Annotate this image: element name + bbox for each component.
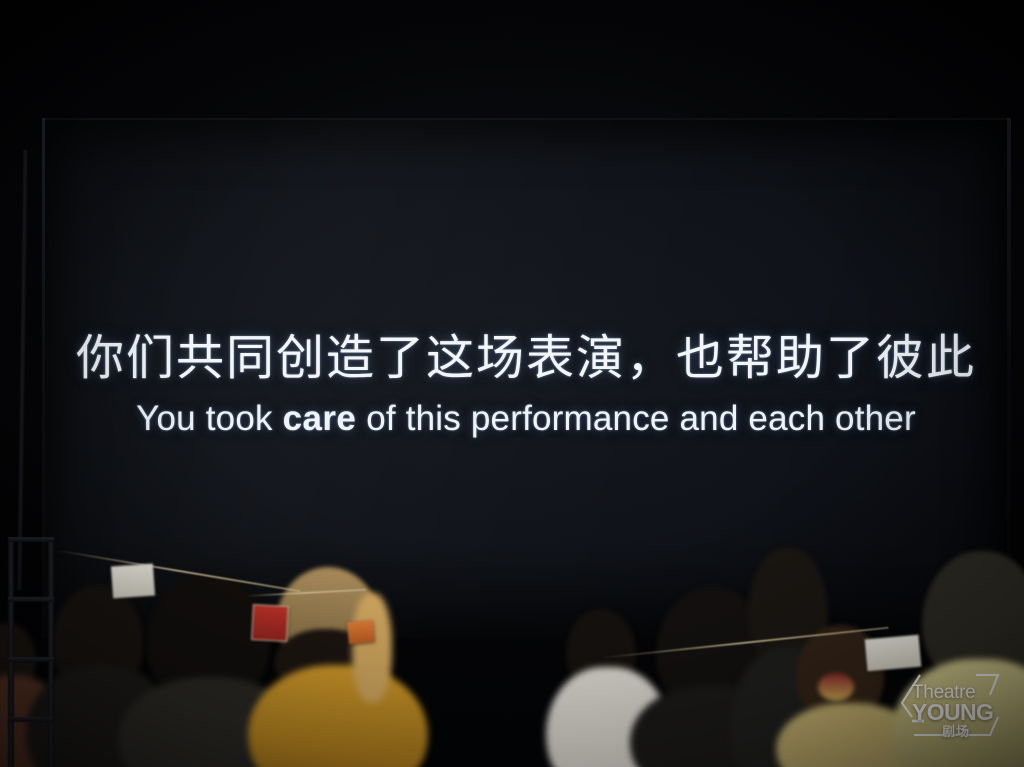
truss-rung [8,537,54,542]
lighting-truss [6,537,64,767]
truss-rail [8,537,14,767]
note-card [865,635,922,672]
note-card [251,604,289,642]
truss-rung [8,657,54,662]
logo-young-text: YOUNG [912,701,1004,724]
hair-accessory [818,673,854,701]
subtitle-english-emphasis: care [283,399,357,438]
theatre-screenshot: 你们共同创造了这场表演，也帮助了彼此 You took care of this… [0,0,1024,767]
subtitle-english: You took care of this performance and ea… [42,399,1010,439]
theatre-young-logo: Theatre YOUNG 剧场 [898,669,1010,745]
note-card [347,620,375,645]
subtitle-chinese: 你们共同创造了这场表演，也帮助了彼此 [42,330,1010,387]
screen-top-edge [42,118,1010,120]
truss-rail [48,537,54,767]
audience-area [0,537,1024,767]
logo-chinese-text: 剧场 [942,725,1004,738]
logo-wordmark: Theatre YOUNG 剧场 [912,683,1004,738]
audience-raised-arm [352,593,392,703]
subtitle-english-before: You took [136,399,282,438]
truss-rung [8,717,54,722]
truss-rung [8,597,54,602]
subtitle-english-after: of this performance and each other [356,399,916,438]
note-card [111,564,155,599]
subtitle-block: 你们共同创造了这场表演，也帮助了彼此 You took care of this… [42,330,1010,439]
